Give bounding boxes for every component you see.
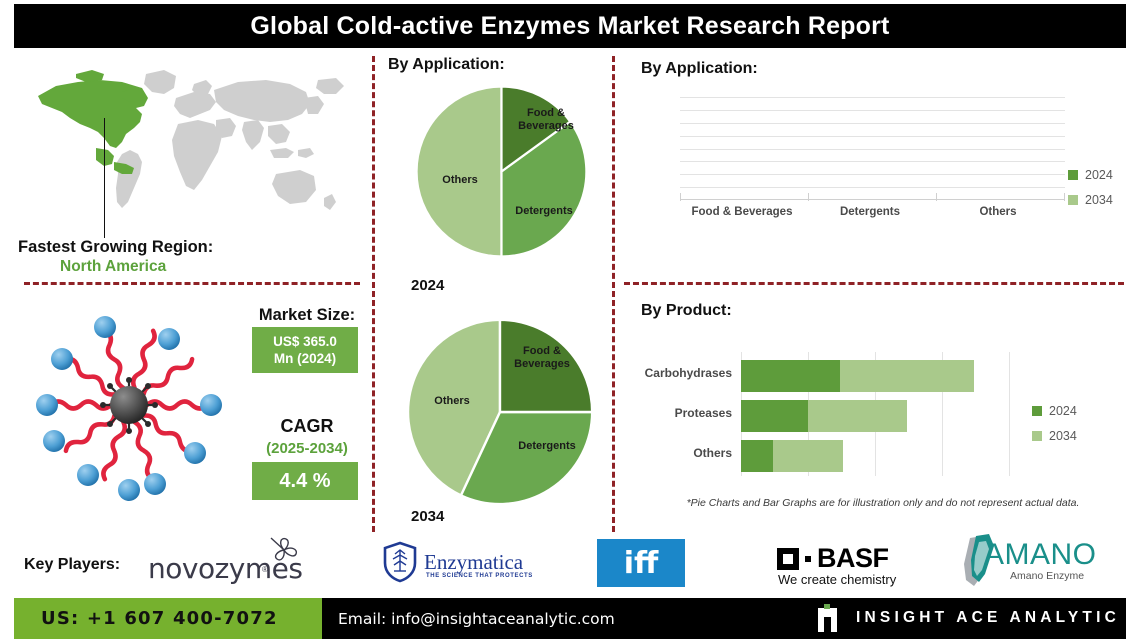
- cagr-years: (2025-2034): [248, 440, 366, 457]
- stacked-bar-carbohydrases: [741, 360, 1009, 392]
- logo-iff: iff: [597, 539, 685, 587]
- market-size-value-box: US$ 365.0 Mn (2024): [252, 327, 358, 373]
- bar-product-ylabel-0: Carbohydrases: [638, 366, 732, 380]
- stacked-others-2024: [741, 440, 773, 472]
- footer-contact-bar: Email: info@insightaceanalytic.com INSIG…: [322, 598, 1126, 639]
- legend-swatch-product-2034: [1032, 431, 1042, 441]
- fastest-growing-region-value: North America: [60, 258, 166, 276]
- stacked-bar-others: [741, 440, 1009, 472]
- pie-chart-2024: [413, 83, 590, 260]
- legend-label-product-2034: 2034: [1049, 429, 1077, 443]
- logo-amano-tagline: Amano Enzyme: [1010, 570, 1084, 582]
- stacked-proteases-2034: [808, 400, 907, 432]
- stacked-carbohydrases-2024: [741, 360, 840, 392]
- legend-item-2024: 2024: [1068, 168, 1113, 182]
- pie-2024-year: 2024: [411, 277, 444, 294]
- logo-basf-tagline: We create chemistry: [778, 572, 896, 587]
- stacked-others-2034: [773, 440, 843, 472]
- basf-square-icon: [777, 548, 799, 570]
- market-size-title: Market Size:: [248, 306, 366, 325]
- bar-product-ylabel-1: Proteases: [638, 406, 732, 420]
- footer-brand: INSIGHT ACE ANALYTIC: [818, 604, 1120, 632]
- bar-product-ylabel-2: Others: [638, 446, 732, 460]
- chart-footnote: *Pie Charts and Bar Graphs are for illus…: [648, 497, 1118, 509]
- logo-enzymatica: Enzymatica: [424, 550, 523, 575]
- basf-dot-icon: [805, 556, 811, 562]
- pie-chart-2034: [404, 316, 596, 508]
- page-title: Global Cold-active Enzymes Market Resear…: [250, 12, 889, 41]
- novozymes-mark-icon: [267, 535, 303, 565]
- divider-horizontal-left: [24, 282, 360, 285]
- stacked-carbohydrases-2034: [840, 360, 974, 392]
- insightace-logo-icon: [818, 604, 840, 632]
- bar-application-xlabel-1: Detergents: [806, 206, 934, 218]
- legend-label-product-2024: 2024: [1049, 404, 1077, 418]
- bar-product-title: By Product:: [641, 302, 732, 320]
- legend-swatch-2024: [1068, 170, 1078, 180]
- market-size-line1: US$ 365.0: [273, 333, 337, 350]
- footer-phone-bar: US: +1 607 400-7072: [14, 598, 322, 639]
- cagr-value-box: 4.4 %: [252, 462, 358, 500]
- bar-product-plot: [741, 352, 1009, 476]
- stacked-proteases-2024: [741, 400, 808, 432]
- bar-application-legend: 2024 2034: [1068, 168, 1113, 218]
- market-size-line2: Mn (2024): [274, 350, 336, 367]
- footer-phone[interactable]: US: +1 607 400-7072: [41, 608, 278, 629]
- legend-item-product-2024: 2024: [1032, 404, 1077, 418]
- divider-vertical-right: [612, 56, 615, 532]
- legend-item-product-2034: 2034: [1032, 429, 1077, 443]
- fastest-growing-region-label: Fastest Growing Region:: [18, 238, 213, 257]
- stacked-bar-proteases: [741, 400, 1009, 432]
- bar-application-xlabel-0: Food & Beverages: [678, 206, 806, 218]
- footer-brand-text: INSIGHT ACE ANALYTIC: [856, 609, 1120, 627]
- bar-application-plot: [680, 97, 1065, 200]
- logo-basf-text: BASF: [817, 543, 889, 574]
- header-banner: Global Cold-active Enzymes Market Resear…: [14, 4, 1126, 48]
- legend-label-2024: 2024: [1085, 168, 1113, 182]
- divider-vertical-left: [372, 56, 375, 532]
- map-leader-line: [104, 118, 105, 238]
- footer-email[interactable]: Email: info@insightaceanalytic.com: [338, 610, 615, 628]
- bar-product-legend: 2024 2034: [1032, 404, 1077, 454]
- logo-amano: AMANO: [984, 538, 1097, 572]
- logo-basf: BASF: [777, 543, 889, 574]
- legend-item-2034: 2034: [1068, 193, 1113, 207]
- legend-swatch-product-2024: [1032, 406, 1042, 416]
- bar-application-title: By Application:: [641, 60, 758, 78]
- world-map: [18, 62, 358, 232]
- divider-horizontal-right: [624, 282, 1124, 285]
- logo-enzymatica-tagline: THE SCIENCE THAT PROTECTS: [426, 573, 533, 579]
- logo-novozymes-registered: ®: [262, 565, 268, 574]
- cagr-value: 4.4 %: [279, 470, 330, 493]
- enzymatica-shield-icon: [382, 541, 418, 583]
- key-players-label: Key Players:: [24, 556, 120, 574]
- legend-swatch-2034: [1068, 195, 1078, 205]
- logo-iff-text: iff: [624, 546, 659, 581]
- pie-section-title: By Application:: [388, 56, 505, 74]
- bar-application-xlabel-2: Others: [934, 206, 1062, 218]
- legend-label-2034: 2034: [1085, 193, 1113, 207]
- cagr-title: CAGR: [248, 416, 366, 437]
- molecule-illustration: [22, 298, 237, 513]
- pie-2034-year: 2034: [411, 508, 444, 525]
